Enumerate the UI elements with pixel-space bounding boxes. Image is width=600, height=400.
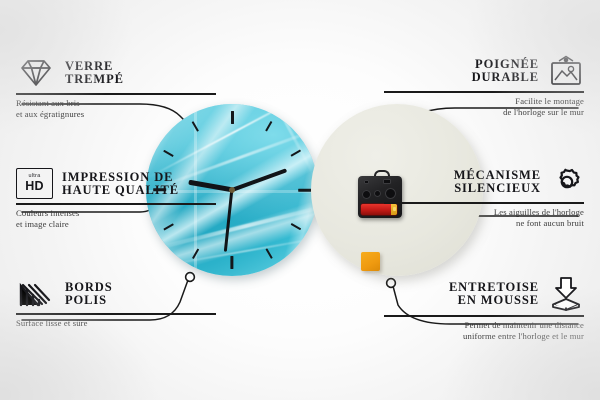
feature-description-line1: Couleurs intenses	[16, 208, 216, 220]
feature-title-line2: DURABLE	[472, 71, 539, 84]
feature-title: ENTRETOISE EN MOUSSE	[449, 281, 539, 307]
ultra-hd-icon: ultra HD	[16, 168, 53, 199]
feature-divider	[16, 93, 216, 95]
picture-hanger-icon	[548, 55, 584, 87]
feature-description: Surface lisse et sûre	[16, 318, 216, 330]
feature-divider	[384, 91, 584, 93]
polished-edges-icon	[16, 279, 56, 309]
feature-divider	[16, 313, 216, 315]
feature-verre-trempe: VERRE TREMPÉ Résistant aux bris et aux é…	[16, 57, 216, 121]
mechanism-port	[364, 180, 369, 184]
feature-title-line2: SILENCIEUX	[454, 182, 541, 195]
feature-divider	[16, 203, 216, 205]
feature-description: Couleurs intenses et image claire	[16, 208, 216, 231]
foam-spacer-icon	[548, 277, 584, 311]
feature-description: Les aiguilles de l'horloge ne font aucun…	[384, 207, 584, 230]
feature-description-line2: et image claire	[16, 219, 216, 231]
feature-title-line2: POLIS	[65, 294, 113, 307]
ultra-hd-icon-large-label: HD	[25, 180, 43, 193]
feature-title: IMPRESSION DE HAUTE QUALITÉ	[62, 171, 179, 197]
clock-pivot	[229, 187, 235, 193]
foam-spacer	[361, 252, 380, 271]
feature-title-line2: TREMPÉ	[65, 73, 124, 86]
feature-description: Facilite le montage de l'horloge sur le …	[384, 96, 584, 119]
feature-title-line2: HAUTE QUALITÉ	[62, 184, 179, 197]
feature-description-line1: Surface lisse et sûre	[16, 318, 216, 330]
clock-tick	[232, 189, 318, 191]
feature-description-line2: ne font aucun bruit	[384, 218, 584, 230]
feature-entretoise-en-mousse: ENTRETOISE EN MOUSSE Permet de maintenir…	[384, 277, 584, 343]
clock-tick	[231, 104, 233, 190]
feature-title-line1: IMPRESSION DE	[62, 171, 179, 184]
gear-icon	[550, 166, 584, 198]
feature-impression-haute-qualite: ultra HD IMPRESSION DE HAUTE QUALITÉ Cou…	[16, 168, 216, 231]
feature-title-line2: EN MOUSSE	[449, 294, 539, 307]
feature-description-line1: Permet de maintenir une distance	[384, 320, 584, 332]
feature-description-line2: uniforme entre l'horloge et le mur	[384, 331, 584, 343]
feature-title: MÉCANISME SILENCIEUX	[454, 169, 541, 195]
feature-description: Permet de maintenir une distance uniform…	[384, 320, 584, 343]
infographic-canvas: VERRE TREMPÉ Résistant aux bris et aux é…	[0, 0, 600, 400]
feature-description: Résistant aux bris et aux égratignures	[16, 98, 216, 121]
feature-description-line1: Résistant aux bris	[16, 98, 216, 110]
mechanism-knob	[362, 190, 371, 199]
feature-description-line1: Les aiguilles de l'horloge	[384, 207, 584, 219]
feature-bords-polis: BORDS POLIS Surface lisse et sûre	[16, 279, 216, 329]
feature-description-line2: de l'horloge sur le mur	[384, 107, 584, 119]
mechanism-knob	[374, 190, 381, 197]
feature-title: VERRE TREMPÉ	[65, 60, 124, 86]
feature-mecanisme-silencieux: MÉCANISME SILENCIEUX Les aiguilles de l'…	[384, 166, 584, 230]
feature-title: BORDS POLIS	[65, 281, 113, 307]
feature-title: POIGNÉE DURABLE	[472, 58, 539, 84]
feature-description-line1: Facilite le montage	[384, 96, 584, 108]
feature-description-line2: et aux égratignures	[16, 109, 216, 121]
feature-poignee-durable: POIGNÉE DURABLE Facilite le montage de l…	[384, 55, 584, 119]
feature-divider	[384, 202, 584, 204]
diamond-icon	[16, 57, 56, 89]
feature-divider	[384, 315, 584, 317]
